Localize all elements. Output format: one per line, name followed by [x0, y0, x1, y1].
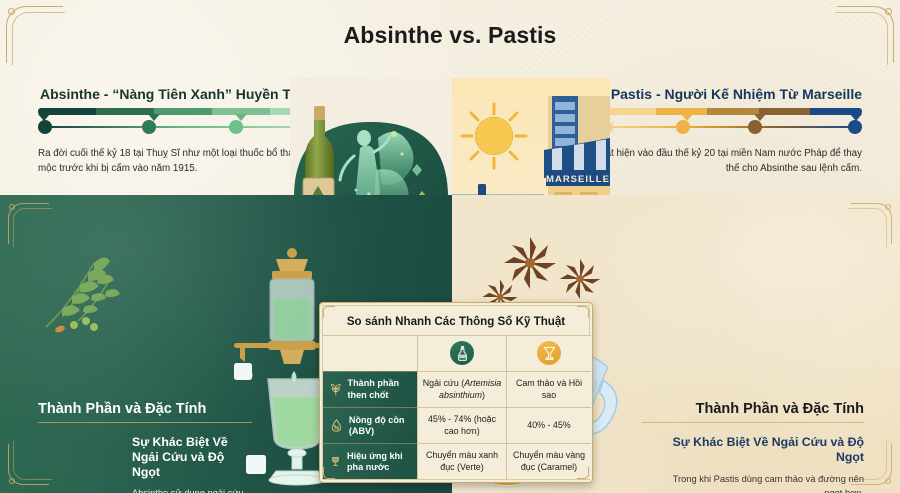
- table-cell-pastis: 40% - 45%: [506, 407, 591, 443]
- absinthe-bottle-icon: [450, 341, 474, 365]
- absinthe-headline: Absinthe - “Nàng Tiên Xanh” Huyền Thoại: [40, 86, 320, 102]
- pastis-description: Xuất hiện vào đầu thế kỷ 20 tại miền Nam…: [592, 147, 862, 176]
- pastis-glass-icon: [537, 341, 561, 365]
- absinthe-timeline: [38, 108, 328, 142]
- infographic-canvas: Absinthe vs. Pastis Absinthe - “Nàng Tiê…: [0, 0, 900, 493]
- absinthe-section-title: Thành Phần và Đặc Tính: [38, 401, 252, 417]
- timeline-dot: [38, 120, 52, 134]
- table-header-blank: [323, 335, 417, 371]
- pastis-timeline-axis: [604, 126, 862, 128]
- table-header-absinthe: [417, 335, 506, 371]
- pastis-timeline-bar: [604, 108, 862, 115]
- comparison-table: So sánh Nhanh Các Thông Số Kỹ Thuật: [319, 302, 593, 483]
- marseille-sign-text: MARSEILLE: [546, 174, 610, 185]
- absinthe-feature-block: Sự Khác Biệt Về Ngải Cứu và Độ Ngọt Absi…: [132, 435, 250, 493]
- absinthe-description: Ra đời cuối thế kỷ 18 tại Thuỵ Sĩ như mộ…: [38, 147, 300, 176]
- alcohol-droplet-icon: [330, 416, 343, 435]
- wormwood-herb-illustration: [36, 247, 132, 333]
- table-row-label: Thành phần then chốt: [348, 378, 412, 400]
- absinthe-feature-text: Absinthe sử dụng ngải cứu tạo vị đắng.: [132, 487, 250, 493]
- section-rule: [642, 422, 864, 423]
- pastis-timeline: [604, 108, 862, 142]
- comparison-table-grid: Thành phần then chốt Ngải cứu (Artemisia…: [323, 335, 589, 479]
- absinthe-timeline-axis: [38, 126, 328, 128]
- timeline-dot: [676, 120, 690, 134]
- table-row-label: Nồng độ cồn (ABV): [349, 415, 412, 437]
- table-header-pastis: [506, 335, 591, 371]
- absinthe-timeline-bar: [38, 108, 328, 115]
- table-cell-pastis: Cam thảo và Hồi sao: [506, 371, 591, 407]
- absinthe-section-ingredients: Thành Phần và Đặc Tính: [38, 401, 252, 423]
- table-row: Thành phần then chốt: [323, 371, 417, 407]
- pastis-headline: Pastis - Người Kế Nhiệm Từ Marseille: [611, 86, 862, 102]
- table-corner: [575, 306, 589, 320]
- comparison-table-title: So sánh Nhanh Các Thông Số Kỹ Thuật: [323, 306, 589, 335]
- timeline-dot: [748, 120, 762, 134]
- table-row-label: Hiệu ứng khi pha nước: [347, 451, 412, 473]
- herb-leaf-icon: [330, 380, 342, 399]
- pastis-feature-title: Sự Khác Biệt Về Ngải Cứu và Độ Ngọt: [664, 435, 864, 465]
- pastis-section-title: Thành Phần và Đặc Tính: [642, 401, 864, 417]
- pastis-section-ingredients: Thành Phần và Đặc Tính: [642, 401, 864, 423]
- section-rule: [38, 422, 252, 423]
- table-corner: [323, 306, 337, 320]
- table-row: Hiệu ứng khi pha nước: [323, 443, 417, 479]
- table-cell-absinthe: Ngải cứu (Artemisia absinthium): [417, 371, 506, 407]
- timeline-dot: [229, 120, 243, 134]
- timeline-dot: [142, 120, 156, 134]
- table-cell-absinthe: Chuyển màu xanh đục (Verte): [417, 443, 506, 479]
- absinthe-feature-title: Sự Khác Biệt Về Ngải Cứu và Độ Ngọt: [132, 435, 250, 481]
- pastis-feature-block: Sự Khác Biệt Về Ngải Cứu và Độ Ngọt Tron…: [664, 435, 864, 493]
- table-corner: [323, 465, 337, 479]
- table-cell-absinthe: 45% - 74% (hoặc cao hơn): [417, 407, 506, 443]
- table-row: Nồng độ cồn (ABV): [323, 407, 417, 443]
- table-corner: [575, 465, 589, 479]
- timeline-dot: [848, 120, 862, 134]
- pastis-feature-text: Trong khi Pastis dùng cam thảo và đường …: [664, 473, 864, 493]
- page-title: Absinthe vs. Pastis: [0, 22, 900, 49]
